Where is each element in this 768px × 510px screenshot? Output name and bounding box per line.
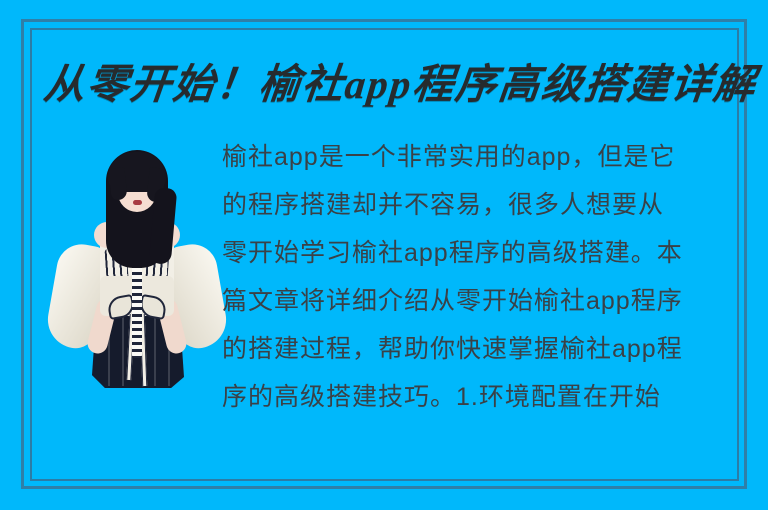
poster-canvas: 从零开始！榆社app程序高级搭建详解: [0, 0, 768, 510]
body-text: 榆社app是一个非常实用的app，但是它 的程序搭建却并不容易，很多人想要从 零…: [222, 133, 734, 421]
body-line: 的搭建过程，帮助你快速掌握榆社app程: [222, 325, 734, 373]
body-line: 序的高级搭建技巧。1.环境配置在开始: [222, 373, 734, 421]
illustration-bang-left: [108, 167, 127, 200]
body-line: 零开始学习榆社app程序的高级搭建。本: [222, 229, 734, 277]
character-illustration: [48, 148, 224, 384]
body-line: 篇文章将详细介绍从零开始榆社app程序: [222, 277, 734, 325]
body-line: 的程序搭建却并不容易，很多人想要从: [222, 181, 734, 229]
page-title: 从零开始！榆社app程序高级搭建详解: [41, 56, 727, 114]
body-line: 榆社app是一个非常实用的app，但是它: [222, 133, 734, 181]
illustration-lips: [133, 200, 142, 205]
